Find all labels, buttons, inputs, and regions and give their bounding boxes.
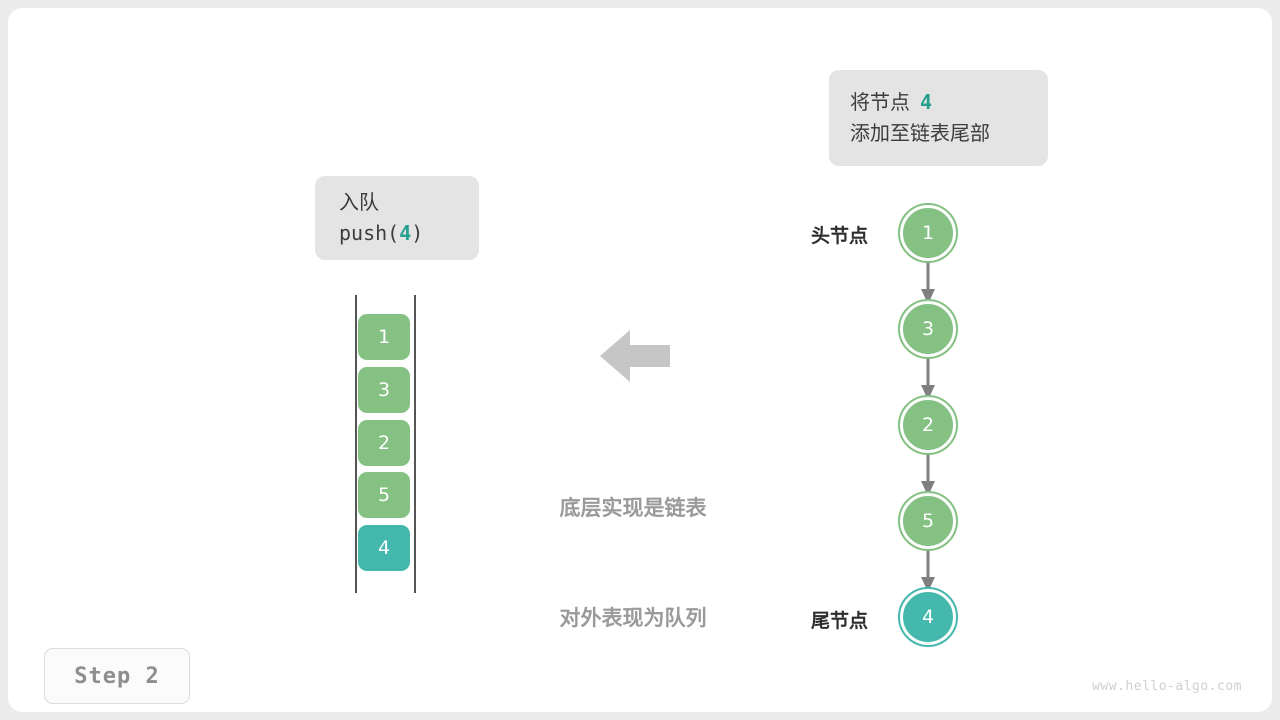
step-badge: Step 2 [44,648,190,704]
push-value: 4 [399,221,411,245]
node-annotation-value: 4 [920,90,932,114]
queue-rail-left [355,295,357,593]
tail-node-label: 尾节点 [714,606,868,633]
push-prefix: push( [339,221,399,245]
node-annotation-box: 将节点4 添加至链表尾部 [829,70,1048,166]
list-node: 4 [900,589,956,645]
queue-item-value: 5 [378,484,390,506]
head-node-label: 头节点 [714,221,868,248]
list-connector-arrow [920,549,936,593]
watermark: www.hello-algo.com [1092,679,1242,694]
operation-label-box: 入队 push(4) [315,176,479,260]
operation-label-line2: push(4) [339,218,423,249]
list-connector-arrow [920,453,936,497]
list-node-value: 2 [922,414,934,436]
list-node: 1 [900,205,956,261]
list-node-value: 4 [922,606,934,628]
queue-item: 3 [358,367,410,413]
node-annotation-line1: 将节点4 [850,87,932,118]
list-node-value: 1 [922,222,934,244]
list-node: 3 [900,301,956,357]
queue-item-value: 2 [378,432,390,454]
push-suffix: ) [411,221,423,245]
list-connector-arrow [920,357,936,401]
list-node: 5 [900,493,956,549]
left-arrow-icon [600,328,670,384]
operation-label-line1: 入队 [339,187,379,218]
queue-item-value: 4 [378,537,390,559]
list-node-value: 3 [922,318,934,340]
center-note-line1: 底层实现是链表 [513,490,753,527]
center-note: 底层实现是链表 对外表现为队列 [513,416,753,710]
queue-item-value: 1 [378,326,390,348]
list-connector-arrow [920,261,936,305]
queue-item: 1 [358,314,410,360]
queue-item: 4 [358,525,410,571]
list-node: 2 [900,397,956,453]
queue-rail-right [414,295,416,593]
list-node-value: 5 [922,510,934,532]
node-annotation-line2: 添加至链表尾部 [850,118,990,149]
queue-item: 5 [358,472,410,518]
diagram-canvas: 入队 push(4) 1 3 2 5 4 底层实现是链表 对外表现为队列 将节点… [8,8,1272,712]
node-annotation-prefix: 将节点 [850,90,910,114]
queue-item: 2 [358,420,410,466]
queue-item-value: 3 [378,379,390,401]
